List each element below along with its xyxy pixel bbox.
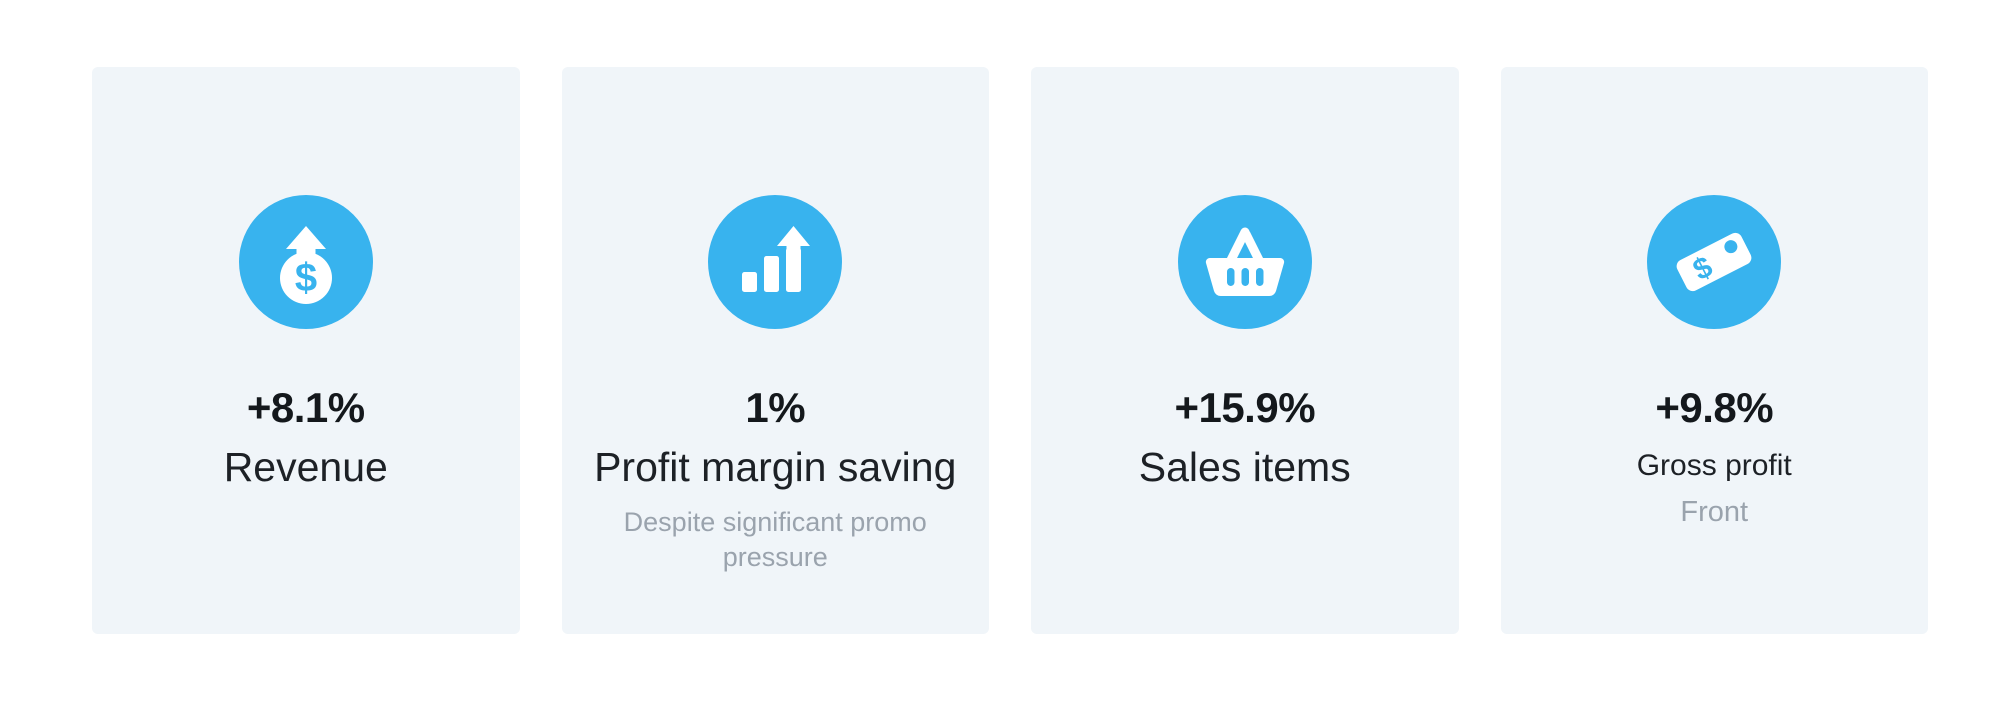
kpi-text-block: 1% Profit margin saving Despite signific… bbox=[562, 329, 990, 574]
kpi-card-sales-items[interactable]: +15.9% Sales items bbox=[1031, 67, 1459, 634]
kpi-value: +9.8% bbox=[1655, 385, 1773, 431]
money-arrow-up-icon: $ bbox=[239, 195, 373, 329]
kpi-label: Gross profit bbox=[1637, 449, 1792, 484]
kpi-text-block: +8.1% Revenue bbox=[92, 329, 520, 491]
kpi-text-block: +9.8% Gross profit Front bbox=[1501, 329, 1929, 531]
kpi-value: +8.1% bbox=[247, 385, 365, 431]
bar-chart-growth-icon bbox=[708, 195, 842, 329]
kpi-value: +15.9% bbox=[1174, 385, 1315, 431]
kpi-card-revenue[interactable]: $ +8.1% Revenue bbox=[92, 67, 520, 634]
kpi-value: 1% bbox=[745, 385, 805, 431]
shopping-basket-icon bbox=[1178, 195, 1312, 329]
kpi-label: Profit margin saving bbox=[594, 444, 956, 491]
kpi-label: Revenue bbox=[224, 444, 388, 491]
kpi-card-profit-margin-saving[interactable]: 1% Profit margin saving Despite signific… bbox=[562, 67, 990, 634]
price-tag-dollar-icon: $ bbox=[1647, 195, 1781, 329]
svg-text:$: $ bbox=[295, 256, 317, 300]
kpi-card-group: $ +8.1% Revenue 1% Profit margin saving … bbox=[92, 67, 1928, 634]
kpi-label: Sales items bbox=[1139, 444, 1351, 491]
kpi-note: Despite significant promo pressure bbox=[610, 505, 940, 574]
kpi-card-gross-profit[interactable]: $ +9.8% Gross profit Front bbox=[1501, 67, 1929, 634]
kpi-text-block: +15.9% Sales items bbox=[1031, 329, 1459, 491]
kpi-note: Front bbox=[1680, 494, 1748, 531]
